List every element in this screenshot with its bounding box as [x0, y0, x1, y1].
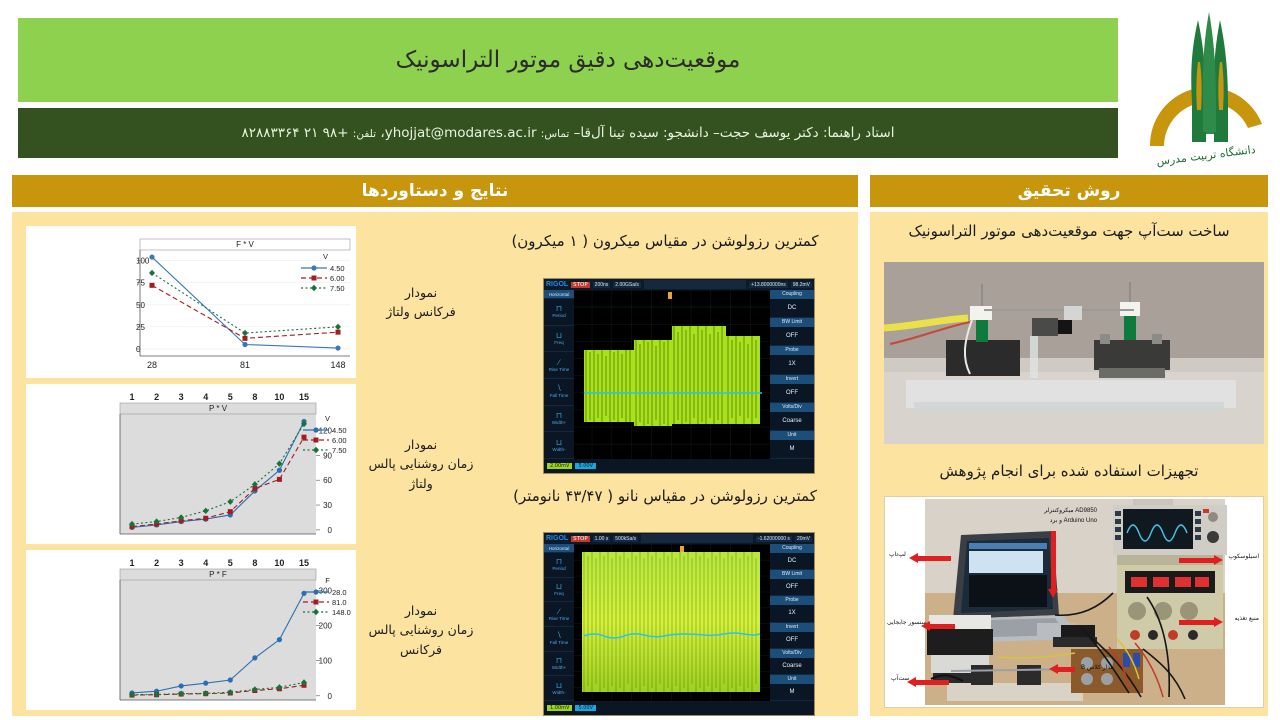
data-point-marker — [242, 342, 247, 347]
scope1-left-menu-header: Horizontal — [544, 290, 574, 299]
y-axis-tick-label: 50 — [136, 301, 145, 310]
scope-left-item-fall-time[interactable]: ∖Fall Time — [544, 627, 574, 652]
data-point-marker — [203, 516, 208, 521]
photo-setup-render — [884, 262, 1264, 444]
scope-left-item-label: Period — [552, 313, 565, 318]
data-point-marker — [277, 637, 282, 642]
scope-right-item-key: BW Limit — [770, 318, 814, 327]
chart-legend-title: V — [303, 414, 352, 423]
scope-right-item-probe[interactable]: Probe1X — [770, 596, 814, 622]
data-point-marker — [252, 655, 257, 660]
waveform-glyph-icon: ∕ — [558, 608, 559, 616]
scope-right-item-value: DC — [770, 299, 814, 317]
y-axis-tick-label: 100 — [319, 657, 333, 666]
arrow-laptop — [917, 556, 951, 561]
waveform-glyph-icon: ∖ — [556, 632, 561, 640]
scope-left-item-rise-time[interactable]: ∕Rise Time — [544, 602, 574, 627]
section-header-method-label: روش تحقیق — [1018, 181, 1121, 201]
data-point-marker — [150, 283, 155, 288]
scope-left-item--width[interactable]: ⊓+Width — [544, 652, 574, 677]
scope-right-item-value: Coarse — [770, 658, 814, 674]
chart-title: F * V — [236, 240, 254, 249]
waveform-glyph-icon: ∖ — [556, 385, 561, 393]
scope2-ch2-scale: 5.00V — [575, 705, 596, 711]
x-axis-tick-label: 2 — [154, 392, 159, 402]
scope1-bottom-bar: 2.00mV 5.00V — [544, 459, 814, 473]
x-axis-tick-label: 81 — [240, 360, 250, 370]
chart-svg: P * V03060901201234581015 — [106, 384, 356, 544]
photo-equipment-render — [885, 497, 1263, 707]
waveform-glyph-icon: ⊓ — [556, 305, 562, 313]
chart-legend-symbol — [303, 598, 329, 606]
page-title: موقعیت‌دهی دقیق موتور التراسونیک — [396, 47, 741, 73]
section-header-results: نتایج و دستاوردها — [12, 175, 858, 207]
caption-nano-resolution: کمترین رزولوشن در مقیاس نانو ( ۴۳/۴۷ نان… — [478, 487, 852, 505]
scope1-timebase: 200ns — [593, 282, 611, 288]
scope-left-item-label: Freq — [554, 340, 563, 345]
data-point-marker — [313, 609, 319, 615]
chart-title: P * F — [209, 570, 227, 579]
chart-legend-symbol — [301, 274, 327, 282]
scope2-bottom-bar: 1.00mV 5.00V — [544, 701, 814, 715]
x-axis-tick-label: 5 — [228, 558, 233, 568]
scope-right-item-unit[interactable]: UnitM — [770, 675, 814, 701]
scope-left-item-label: Period — [552, 566, 565, 571]
data-point-marker — [313, 427, 318, 432]
university-logo: دانشگاه تربیت مدرس — [1140, 6, 1272, 166]
author-line: استاد راهنما: دکتر یوسف حجت– دانشجو: سید… — [242, 125, 895, 141]
y-axis-tick-label: 0 — [328, 526, 333, 535]
chart-label-1: نمودارفرکانس ولتاژ — [356, 226, 486, 378]
x-axis-tick-label: 1 — [129, 558, 134, 568]
scope-right-item-key: Coupling — [770, 290, 814, 299]
x-axis-tick-label: 10 — [274, 558, 284, 568]
chart-legend-title: F — [303, 576, 352, 585]
chart-legend-symbol — [303, 446, 329, 454]
annotation-microcontroller-line2: و برد Arduino Uno — [1031, 517, 1097, 524]
x-axis-tick-label: 4 — [203, 392, 208, 402]
chart-row-3: نمودارزمان روشنایی پالسفرکانس P * F01002… — [16, 550, 486, 710]
x-axis-tick-label: 1 — [129, 392, 134, 402]
chart-pf: P * F01002003001234581015F28.081.0148.0 — [26, 550, 356, 710]
chart-legend-symbol — [303, 436, 329, 444]
scope-run-state: STOP — [571, 282, 590, 288]
scope-right-item-key: Probe — [770, 596, 814, 605]
chart-label-3-text: نمودارزمان روشنایی پالسفرکانس — [369, 601, 474, 659]
x-axis-tick-label: 3 — [179, 392, 184, 402]
chart-label-3: نمودارزمان روشنایی پالسفرکانس — [356, 550, 486, 710]
data-point-marker — [314, 600, 319, 605]
data-point-marker — [313, 589, 318, 594]
chart-legend-symbol — [303, 426, 329, 434]
scope2-left-menu[interactable]: Horizontal ⊓Period⊔Freq∕Rise Time∖Fall T… — [544, 544, 574, 701]
chart-legend-item: 4.50 — [301, 263, 350, 273]
chart-legend-symbol — [303, 608, 329, 616]
scope1-left-menu[interactable]: Horizontal ⊓Period⊔Freq∕Rise Time∖Fall T… — [544, 290, 574, 459]
scope-left-item-period[interactable]: ⊓Period — [544, 553, 574, 578]
scope-right-item-key: Unit — [770, 675, 814, 684]
waveform-glyph-icon: ⊔ — [556, 439, 562, 447]
caption-research-equipment: تجهیزات استفاده شده برای انجام پژوهش — [876, 462, 1262, 480]
chart-fv: F * V02550751002881148V4.506.007.50 — [26, 226, 356, 378]
scope-right-item-volts-div[interactable]: Volts/DivCoarse — [770, 403, 814, 431]
scope-brand-label: RIGOL — [546, 281, 568, 288]
scope2-brand-label: RIGOL — [546, 535, 568, 542]
x-axis-tick-label: 3 — [179, 558, 184, 568]
x-axis-tick-label: 8 — [252, 392, 257, 402]
scope1-ch2-scale: 5.00V — [575, 463, 596, 469]
data-point-marker — [277, 477, 282, 482]
section-header-results-label: نتایج و دستاوردها — [362, 181, 509, 201]
author-email: yhojjat@modares.ac.ir — [385, 125, 537, 141]
chart-row-1: نمودارفرکانس ولتاژ F * V0255075100288114… — [16, 226, 486, 378]
section-header-method: روش تحقیق — [870, 175, 1268, 207]
arrow-microcontroller — [1051, 531, 1056, 589]
scope-left-item-rise-time[interactable]: ∕Rise Time — [544, 352, 574, 379]
y-axis-tick-label: 100 — [136, 257, 150, 266]
scope-right-item-key: Volts/Div — [770, 649, 814, 658]
chart-svg: P * F01002003001234581015 — [106, 550, 356, 710]
y-axis-tick-label: 25 — [136, 323, 145, 332]
scope-left-item-label: Fall Time — [550, 393, 569, 398]
y-axis-tick-label: 75 — [136, 279, 145, 288]
scope2-ch1-scale: 1.00mV — [547, 705, 572, 711]
scope2-timebase: 1.00 s — [593, 536, 611, 542]
scope-left-item--width[interactable]: ⊔-Width — [544, 432, 574, 459]
scope-right-item-value: OFF — [770, 579, 814, 595]
chart-legend-label: 148.0 — [332, 608, 352, 617]
waveform-glyph-icon: ⊓ — [556, 412, 562, 420]
chart-legend-label: 4.50 — [330, 264, 350, 273]
chart-3-container: P * F01002003001234581015F28.081.0148.0 — [26, 550, 356, 710]
data-point-marker — [179, 683, 184, 688]
scope1-waveform — [574, 290, 770, 459]
x-axis-tick-label: 28 — [147, 360, 157, 370]
scope-left-item-label: Rise Time — [549, 616, 569, 621]
scope-right-item-probe[interactable]: Probe1X — [770, 346, 814, 374]
chart-pv: P * V03060901201234581015V4.506.007.50 — [26, 384, 356, 544]
waveform-glyph-icon: ⊔ — [556, 583, 562, 591]
waveform-glyph-icon: ⊔ — [556, 682, 562, 690]
scope-right-item-key: Invert — [770, 623, 814, 632]
data-point-marker — [311, 285, 317, 291]
scope-right-item-value: 1X — [770, 355, 814, 373]
data-point-marker — [313, 447, 319, 453]
chart-legend-item: 4.50 — [303, 425, 352, 435]
scope2-topbar: RIGOL STOP 1.00 s 500kSa/s -1.62000000 s… — [544, 533, 814, 544]
scope-left-item--width[interactable]: ⊓+Width — [544, 406, 574, 433]
x-axis-tick-label: 4 — [203, 558, 208, 568]
scope-right-item-unit[interactable]: UnitM — [770, 431, 814, 459]
scope-left-item-period[interactable]: ⊓Period — [544, 299, 574, 326]
chart-legend-item: 148.0 — [303, 607, 352, 617]
phone-label: تلفن: — [353, 128, 376, 140]
photo-ultrasonic-setup — [884, 262, 1264, 444]
caption-micro-resolution: کمترین رزولوشن در مقیاس میکرون ( ۱ میکرو… — [478, 232, 852, 250]
waveform-glyph-icon: ⊓ — [556, 558, 562, 566]
scope-right-item-coupling[interactable]: CouplingDC — [770, 544, 814, 570]
photo-research-equipment: اسیلوسکوپ منبع تغذیه لپ‌تاپ سنسور جابجای… — [884, 496, 1264, 708]
chart-legend-title: V — [301, 252, 350, 261]
data-point-marker — [311, 265, 316, 270]
scope1-waveform-area — [574, 290, 770, 459]
arrow-class-b-circuit — [1057, 667, 1075, 672]
y-axis-tick-label: 30 — [323, 501, 332, 510]
chart-title: P * V — [209, 404, 228, 413]
waveform-glyph-icon: ∕ — [558, 359, 559, 367]
scope-right-item-value: M — [770, 684, 814, 700]
x-axis-tick-label: 148 — [330, 360, 345, 370]
waveform-glyph-icon: ⊓ — [556, 657, 562, 665]
scope-right-item-value: OFF — [770, 384, 814, 402]
scope-left-item-label: Fall Time — [550, 640, 569, 645]
chart-2-container: P * V03060901201234581015V4.506.007.50 — [26, 384, 356, 544]
x-axis-tick-label: 10 — [274, 392, 284, 402]
chart-legend-item: 6.00 — [303, 435, 352, 445]
x-axis-tick-label: 15 — [299, 392, 309, 402]
data-point-marker — [314, 438, 319, 443]
scope-left-item-freq[interactable]: ⊔Freq — [544, 578, 574, 603]
scope1-memory-bar — [644, 280, 746, 289]
chart-legend-item: 7.50 — [303, 445, 352, 455]
chart-legend-symbol — [303, 588, 329, 596]
scope1-trigger-level: 98.2mV — [791, 282, 812, 288]
scope-left-item-label: Rise Time — [549, 367, 569, 372]
scope-right-item-key: Unit — [770, 431, 814, 440]
scope-right-item-key: Probe — [770, 346, 814, 355]
chart-legend: V4.506.007.50 — [301, 252, 350, 293]
scope1-right-menu[interactable]: CouplingDCBW LimitOFFProbe1XInvertOFFVol… — [770, 290, 814, 459]
arrow-power-supply — [1179, 620, 1215, 625]
oscilloscope-screenshot-nano: RIGOL STOP 1.00 s 500kSa/s -1.62000000 s… — [543, 532, 815, 716]
x-axis-tick-label: 5 — [228, 392, 233, 402]
scope2-memory-bar — [641, 534, 753, 543]
scope-left-item-freq[interactable]: ⊔Freq — [544, 326, 574, 353]
chart-legend-label: 6.00 — [330, 274, 350, 283]
scope-right-item-coupling[interactable]: CouplingDC — [770, 290, 814, 318]
data-point-marker — [149, 254, 154, 259]
annotation-microcontroller-line1: میکروکنترلر AD9850 — [1031, 507, 1097, 514]
scope-left-item-fall-time[interactable]: ∖Fall Time — [544, 379, 574, 406]
arrow-setup — [915, 680, 949, 685]
chart-label-2: نمودارزمان روشنایی پالسولتاژ — [356, 384, 486, 544]
chart-legend-label: 4.50 — [332, 426, 352, 435]
data-point-marker — [228, 509, 233, 514]
scope2-right-menu[interactable]: CouplingDCBW LimitOFFProbe1XInvertOFFVol… — [770, 544, 814, 701]
y-axis-tick-label: 0 — [328, 692, 333, 701]
data-point-marker — [203, 681, 208, 686]
author-phone: +۹۸ ۲۱ ۸۲۸۸۳۳۶۴ — [242, 125, 349, 141]
scope-right-item-key: BW Limit — [770, 570, 814, 579]
data-point-marker — [335, 345, 340, 350]
scope-left-item-label: +Width — [552, 420, 566, 425]
chart-legend: V4.506.007.50 — [303, 414, 352, 455]
scope2-waveform — [574, 544, 770, 701]
chart-svg: F * V02550751002881148 — [106, 226, 356, 378]
data-point-marker — [277, 468, 282, 473]
chart-legend-symbol — [301, 284, 327, 292]
data-point-marker — [243, 336, 248, 341]
chart-row-2: نمودارزمان روشنایی پالسولتاژ P * V030609… — [16, 384, 486, 544]
scope2-run-state: STOP — [571, 536, 590, 542]
author-names: استاد راهنما: دکتر یوسف حجت– دانشجو: سید… — [574, 125, 895, 141]
arrow-displacement-sensor — [929, 624, 955, 629]
annotation-oscilloscope: اسیلوسکوپ — [1228, 553, 1259, 560]
scope-right-item-invert[interactable]: InvertOFF — [770, 623, 814, 649]
chart-1-container: F * V02550751002881148V4.506.007.50 — [26, 226, 356, 378]
scope-right-item-value: M — [770, 440, 814, 458]
poster-author-bar: استاد راهنما: دکتر یوسف حجت– دانشجو: سید… — [18, 108, 1118, 158]
scope-right-item-bw-limit[interactable]: BW LimitOFF — [770, 570, 814, 596]
arrow-oscilloscope — [1179, 558, 1215, 563]
chart-legend-item: 28.0 — [303, 587, 352, 597]
scope-right-item-bw-limit[interactable]: BW LimitOFF — [770, 318, 814, 346]
poster-root: موقعیت‌دهی دقیق موتور التراسونیک استاد ر… — [0, 0, 1280, 720]
scope2-left-menu-header: Horizontal — [544, 544, 574, 553]
scope1-ch1-scale: 2.00mV — [547, 463, 572, 469]
scope2-sample-rate: 500kSa/s — [613, 536, 638, 542]
scope-left-item-label: -Width — [552, 690, 565, 695]
chart-legend-item: 7.50 — [301, 283, 350, 293]
chart-legend-label: 7.50 — [332, 446, 352, 455]
scope-right-item-volts-div[interactable]: Volts/DivCoarse — [770, 649, 814, 675]
scope-right-item-value: DC — [770, 553, 814, 569]
logo-mark — [1140, 6, 1272, 156]
chart-legend-label: 28.0 — [332, 588, 352, 597]
scope-right-item-value: 1X — [770, 605, 814, 621]
scope-left-item-label: +Width — [552, 665, 566, 670]
scope-right-item-value: Coarse — [770, 412, 814, 430]
caption-setup-build: ساخت ست‌آپ جهت موقعیت‌دهی موتور التراسون… — [876, 222, 1262, 240]
chart-legend-label: 7.50 — [330, 284, 350, 293]
chart-legend: F28.081.0148.0 — [303, 576, 352, 617]
scope1-trigger-delay: +13.8000000ns — [749, 282, 788, 288]
scope2-trigger-delay: -1.62000000 s — [756, 536, 792, 542]
x-axis-tick-label: 15 — [299, 558, 309, 568]
data-point-marker — [228, 677, 233, 682]
scope2-trigger-level: 20mV — [795, 536, 812, 542]
scope-right-item-key: Volts/Div — [770, 403, 814, 412]
chart-legend-item: 6.00 — [301, 273, 350, 283]
chart-legend-item: 81.0 — [303, 597, 352, 607]
scope-right-item-value: OFF — [770, 632, 814, 648]
scope-left-item--width[interactable]: ⊔-Width — [544, 676, 574, 701]
annotation-class-b-circuit: مدار کلاس B — [1081, 664, 1114, 671]
scope1-sample-rate: 2.00GSa/s — [613, 282, 641, 288]
x-axis-tick-label: 8 — [252, 558, 257, 568]
annotation-power-supply: منبع تغذیه — [1234, 615, 1259, 622]
chart-legend-label: 81.0 — [332, 598, 352, 607]
x-axis-tick-label: 2 — [154, 558, 159, 568]
scope-right-item-key: Coupling — [770, 544, 814, 553]
waveform-glyph-icon: ⊔ — [556, 332, 562, 340]
scope-right-item-value: OFF — [770, 327, 814, 345]
y-axis-tick-label: 60 — [323, 476, 332, 485]
chart-label-2-text: نمودارزمان روشنایی پالسولتاژ — [369, 435, 474, 493]
data-point-marker — [336, 330, 341, 335]
scope-left-item-label: -Width — [552, 447, 565, 452]
poster-title-bar: موقعیت‌دهی دقیق موتور التراسونیک — [18, 18, 1118, 102]
oscilloscope-screenshot-micron: RIGOL STOP 200ns 2.00GSa/s +13.8000000ns… — [543, 278, 815, 474]
data-point-marker — [312, 276, 317, 281]
chart-legend-symbol — [301, 264, 327, 272]
scope1-topbar: RIGOL STOP 200ns 2.00GSa/s +13.8000000ns… — [544, 279, 814, 290]
annotation-laptop: لپ‌تاپ — [889, 551, 906, 558]
scope2-waveform-area — [574, 544, 770, 701]
scope-right-item-invert[interactable]: InvertOFF — [770, 375, 814, 403]
contact-label: تماس: — [541, 128, 570, 140]
chart-label-1-text: نمودارفرکانس ولتاژ — [386, 283, 455, 322]
scope-left-item-label: Freq — [554, 591, 563, 596]
scope-right-item-key: Invert — [770, 375, 814, 384]
chart-legend-label: 6.00 — [332, 436, 352, 445]
y-axis-tick-label: 200 — [319, 622, 333, 631]
